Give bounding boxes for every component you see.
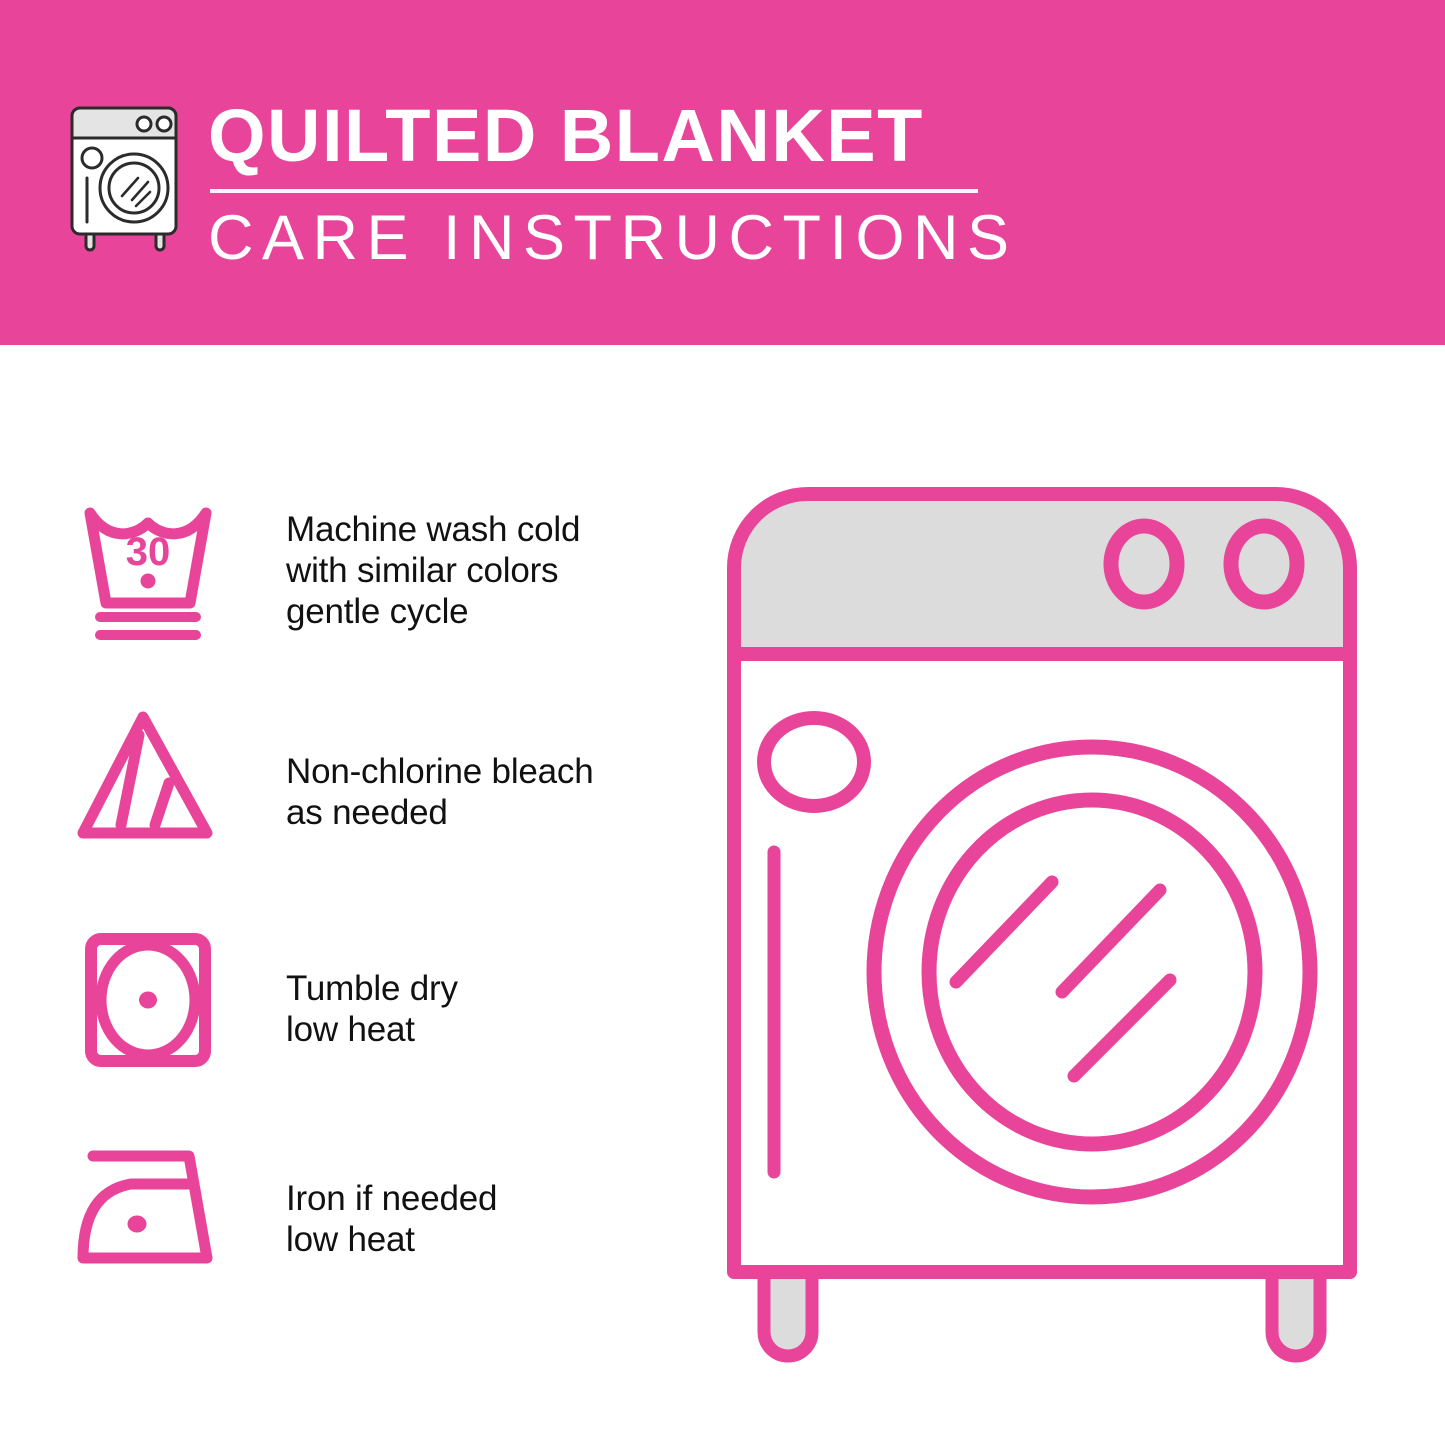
care-row-tumble-dry: Tumble dry low heat — [0, 930, 700, 1110]
care-text-bleach: Non-chlorine bleach as needed — [286, 705, 594, 833]
machine-leg-left — [764, 1272, 812, 1356]
washing-machine-icon — [62, 100, 194, 252]
machine-power-button — [764, 718, 864, 806]
front-load-washing-machine-illustration — [712, 472, 1412, 1372]
care-text-machine-wash: Machine wash cold with similar colors ge… — [286, 495, 580, 632]
wash-temp-value: 30 — [126, 530, 171, 574]
care-text-line: Non-chlorine bleach — [286, 751, 594, 792]
title-divider — [210, 189, 978, 193]
machine-door-inner — [929, 800, 1255, 1144]
tumble-dry-low-icon — [68, 930, 228, 1070]
page-subtitle: CARE INSTRUCTIONS — [208, 202, 998, 274]
care-row-machine-wash: 30 Machine wash cold with similar colors… — [0, 495, 700, 675]
care-text-line: Tumble dry — [286, 968, 458, 1009]
care-row-bleach: Non-chlorine bleach as needed — [0, 705, 700, 885]
page-title: QUILTED BLANKET — [208, 96, 998, 176]
machine-leg-right — [1272, 1272, 1320, 1356]
iron-low-heat-icon — [68, 1140, 228, 1270]
care-text-line: low heat — [286, 1219, 497, 1260]
care-row-iron: Iron if needed low heat — [0, 1140, 700, 1320]
care-text-line: gentle cycle — [286, 591, 580, 632]
care-text-line: low heat — [286, 1009, 458, 1050]
care-text-line: as needed — [286, 792, 594, 833]
non-chlorine-bleach-triangle-icon — [68, 705, 228, 845]
care-text-iron: Iron if needed low heat — [286, 1140, 497, 1260]
machine-knob-left — [1111, 526, 1177, 602]
care-instructions-infographic: QUILTED BLANKET CARE INSTRUCTIONS 30 — [0, 0, 1445, 1445]
machine-knob-right — [1231, 526, 1297, 602]
care-text-tumble-dry: Tumble dry low heat — [286, 930, 458, 1050]
care-text-line: with similar colors — [286, 550, 580, 591]
header-text-block: QUILTED BLANKET CARE INSTRUCTIONS — [208, 96, 998, 274]
wash-basin-30-gentle-icon: 30 — [68, 495, 228, 645]
care-text-line: Machine wash cold — [286, 509, 580, 550]
header-banner: QUILTED BLANKET CARE INSTRUCTIONS — [0, 0, 1445, 345]
care-text-line: Iron if needed — [286, 1178, 497, 1219]
